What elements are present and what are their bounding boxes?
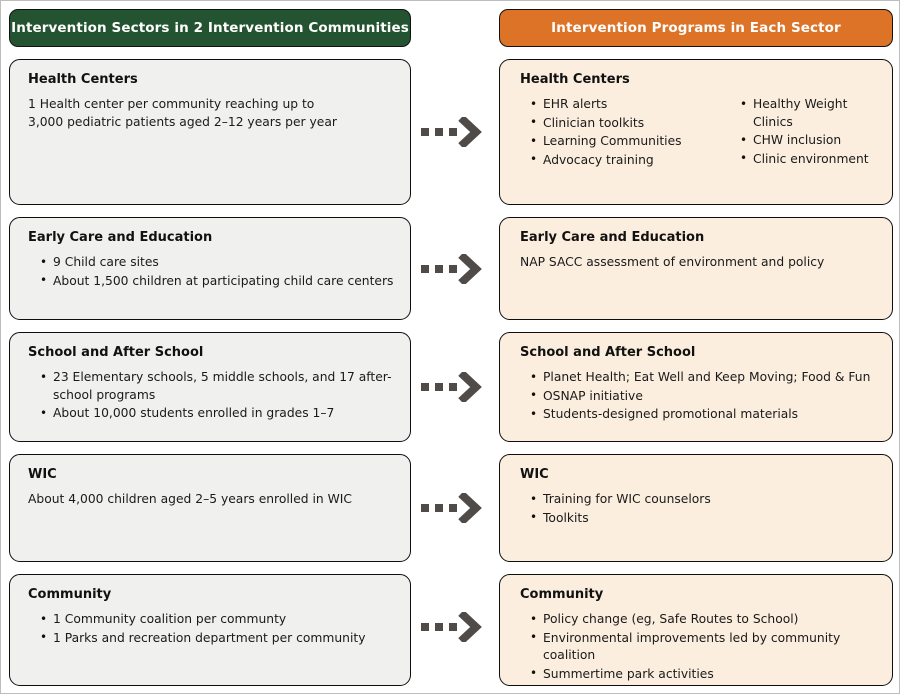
arrow-wic — [419, 493, 489, 523]
card-title: Community — [520, 588, 876, 602]
arrow-health-centers — [419, 117, 489, 147]
arrow-school-and-after-school — [419, 372, 489, 402]
bullet-list: 9 Child care sites About 1,500 children … — [28, 254, 394, 290]
list-item: 1 Parks and recreation department per co… — [40, 630, 394, 647]
dashed-arrow-icon — [419, 493, 489, 523]
list-item: Planet Health; Eat Well and Keep Moving;… — [530, 369, 876, 386]
card-paragraph: NAP SACC assessment of environment and p… — [520, 254, 876, 272]
list-item: OSNAP initiative — [530, 388, 876, 405]
list-item: Advocacy training — [530, 152, 728, 169]
card-title: Community — [28, 588, 394, 602]
program-card-wic: WIC Training for WIC counselors Toolkits — [499, 454, 893, 562]
dashed-arrow-icon — [419, 117, 489, 147]
bullet-list-secondary: Healthy Weight Clinics CHW inclusion Cli… — [728, 96, 876, 170]
list-item: 23 Elementary schools, 5 middle schools,… — [40, 369, 394, 404]
list-item: Training for WIC counselors — [530, 491, 876, 508]
column-header-sectors: Intervention Sectors in 2 Intervention C… — [9, 9, 411, 47]
list-item: 1 Community coalition per communty — [40, 611, 394, 628]
list-item: Clinic environment — [740, 151, 876, 168]
card-title: WIC — [520, 468, 876, 482]
list-item: Toolkits — [530, 510, 876, 527]
list-item: About 10,000 students enrolled in grades… — [40, 405, 394, 422]
intervention-diagram: Intervention Sectors in 2 Intervention C… — [0, 0, 900, 694]
card-title: Early Care and Education — [520, 231, 876, 245]
list-item: Summertime park activities — [530, 666, 876, 683]
list-item: Students-designed promotional materials — [530, 406, 876, 423]
list-item: Healthy Weight Clinics — [740, 96, 876, 131]
bullet-list: Training for WIC counselors Toolkits — [518, 491, 876, 527]
program-card-school-and-after-school: School and After School Planet Health; E… — [499, 332, 893, 442]
bullet-list: 23 Elementary schools, 5 middle schools,… — [28, 369, 394, 422]
bullet-list-primary: EHR alerts Clinician toolkits Learning C… — [518, 96, 728, 170]
list-item: Clinician toolkits — [530, 115, 728, 132]
bullet-list: Policy change (eg, Safe Routes to School… — [518, 611, 876, 683]
sector-card-wic: WIC About 4,000 children aged 2–5 years … — [9, 454, 411, 562]
card-title: WIC — [28, 468, 394, 482]
arrow-community — [419, 612, 489, 642]
bullet-columns: EHR alerts Clinician toolkits Learning C… — [518, 96, 876, 170]
program-card-early-care-and-education: Early Care and Education NAP SACC assess… — [499, 217, 893, 320]
dashed-arrow-icon — [419, 372, 489, 402]
card-title: Health Centers — [28, 73, 394, 87]
card-title: Early Care and Education — [28, 231, 394, 245]
bullet-list: 1 Community coalition per communty 1 Par… — [28, 611, 394, 647]
card-title: School and After School — [28, 346, 394, 360]
sector-card-early-care-and-education: Early Care and Education 9 Child care si… — [9, 217, 411, 320]
column-header-programs: Intervention Programs in Each Sector — [499, 9, 893, 47]
program-card-health-centers: Health Centers EHR alerts Clinician tool… — [499, 59, 893, 205]
list-item: EHR alerts — [530, 96, 728, 113]
card-paragraph: 1 Health center per community reaching u… — [28, 96, 394, 132]
dashed-arrow-icon — [419, 254, 489, 284]
card-title: Health Centers — [520, 73, 876, 87]
list-item: About 1,500 children at participating ch… — [40, 273, 394, 290]
list-item: CHW inclusion — [740, 132, 876, 149]
list-item: Environmental improvements led by commun… — [530, 630, 876, 665]
program-card-community: Community Policy change (eg, Safe Routes… — [499, 574, 893, 686]
card-title: School and After School — [520, 346, 876, 360]
sector-card-community: Community 1 Community coalition per comm… — [9, 574, 411, 686]
arrow-early-care-and-education — [419, 254, 489, 284]
list-item: Policy change (eg, Safe Routes to School… — [530, 611, 876, 628]
card-paragraph: About 4,000 children aged 2–5 years enro… — [28, 491, 394, 509]
sector-card-health-centers: Health Centers 1 Health center per commu… — [9, 59, 411, 205]
list-item: Learning Communities — [530, 133, 728, 150]
dashed-arrow-icon — [419, 612, 489, 642]
sector-card-school-and-after-school: School and After School 23 Elementary sc… — [9, 332, 411, 442]
bullet-list: Planet Health; Eat Well and Keep Moving;… — [518, 369, 876, 423]
list-item: 9 Child care sites — [40, 254, 394, 271]
